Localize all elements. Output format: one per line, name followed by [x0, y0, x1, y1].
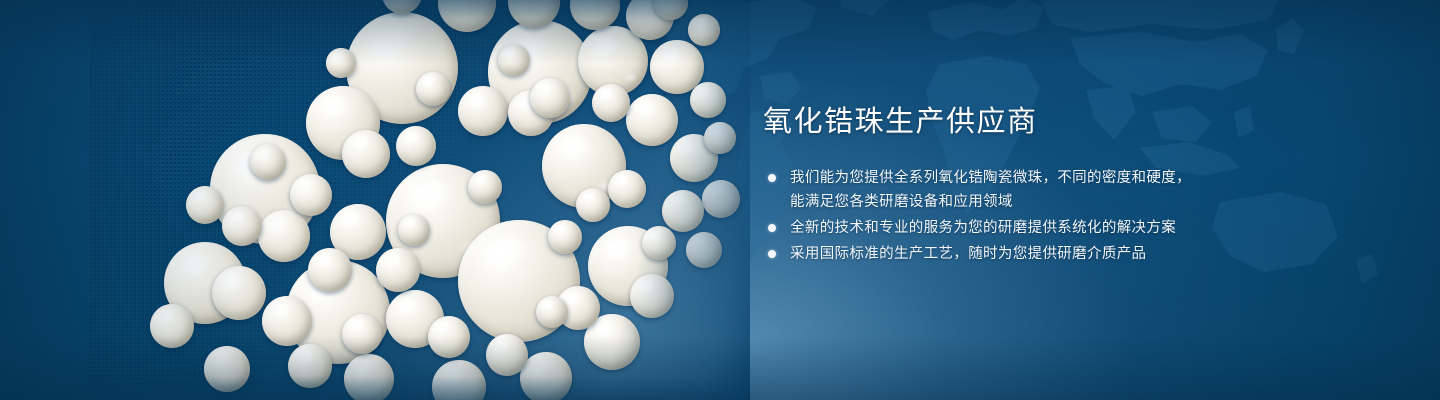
list-item-line1: 我们能为您提供全系列氧化锆陶瓷微珠，不同的密度和硬度，: [790, 170, 1191, 186]
list-item: 全新的技术和专业的服务为您的研磨提供系统化的解决方案: [763, 216, 1323, 240]
hero-banner: 氧化锆珠生产供应商 我们能为您提供全系列氧化锆陶瓷微珠，不同的密度和硬度， 能满…: [0, 0, 1440, 400]
list-item-line1: 采用国际标准的生产工艺，随时为您提供研磨介质产品: [790, 246, 1146, 262]
bullet-dot-icon: [768, 224, 776, 232]
feature-list: 我们能为您提供全系列氧化锆陶瓷微珠，不同的密度和硬度， 能满足您各类研磨设备和应…: [763, 166, 1323, 266]
page-title: 氧化锆珠生产供应商: [763, 104, 1323, 140]
list-item-line2: 能满足您各类研磨设备和应用领域: [790, 190, 1323, 214]
list-item-line1: 全新的技术和专业的服务为您的研磨提供系统化的解决方案: [790, 220, 1176, 236]
bullet-dot-icon: [768, 174, 776, 182]
list-item: 我们能为您提供全系列氧化锆陶瓷微珠，不同的密度和硬度， 能满足您各类研磨设备和应…: [763, 166, 1323, 214]
list-item: 采用国际标准的生产工艺，随时为您提供研磨介质产品: [763, 242, 1323, 266]
banner-content: 氧化锆珠生产供应商 我们能为您提供全系列氧化锆陶瓷微珠，不同的密度和硬度， 能满…: [763, 104, 1323, 268]
bullet-dot-icon: [768, 250, 776, 258]
